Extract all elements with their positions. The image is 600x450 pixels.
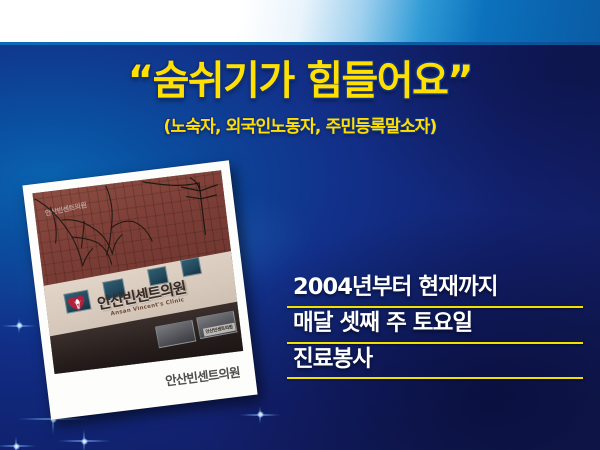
main-title: “숨쉬기가 힘들어요” [0, 60, 600, 102]
info-line-row: 진료봉사 [287, 344, 583, 378]
photo-caption-text: 안산빈센트의원 [164, 361, 241, 389]
photo-frame: 안산빈센트의원 안산빈센트의원 Ansan Vincent's Clinic 안… [22, 160, 257, 420]
title-block: “숨쉬기가 힘들어요” (노숙자, 외국인노동자, 주민등록말소자) [0, 60, 600, 137]
info-line-row: 매달 셋째 주 토요일 [287, 308, 583, 342]
info-lines-block: 2004년부터 현재까지 매달 셋째 주 토요일 진료봉사 [287, 272, 583, 379]
clinic-photo: 안산빈센트의원 안산빈센트의원 Ansan Vincent's Clinic 안… [22, 160, 257, 420]
info-line-row: 2004년부터 현재까지 [287, 272, 583, 306]
clinic-logo-icon [65, 292, 89, 314]
presentation-slide: 2004~현 : 안산빈센트의원 진료봉사 CMC영성구현상 개인부문 (정체성… [0, 0, 600, 450]
info-line-rule [287, 377, 583, 379]
info-line-1: 2004년부터 현재까지 [293, 273, 583, 302]
info-line-3: 진료봉사 [293, 345, 583, 374]
photo-image: 안산빈센트의원 안산빈센트의원 Ansan Vincent's Clinic 안… [32, 170, 243, 374]
subtitle: (노숙자, 외국인노동자, 주민등록말소자) [0, 112, 600, 137]
info-line-2: 매달 셋째 주 토요일 [293, 309, 583, 338]
header-accent-rule [0, 42, 600, 45]
photo-window [180, 257, 202, 277]
slide-header-bar [0, 0, 600, 42]
